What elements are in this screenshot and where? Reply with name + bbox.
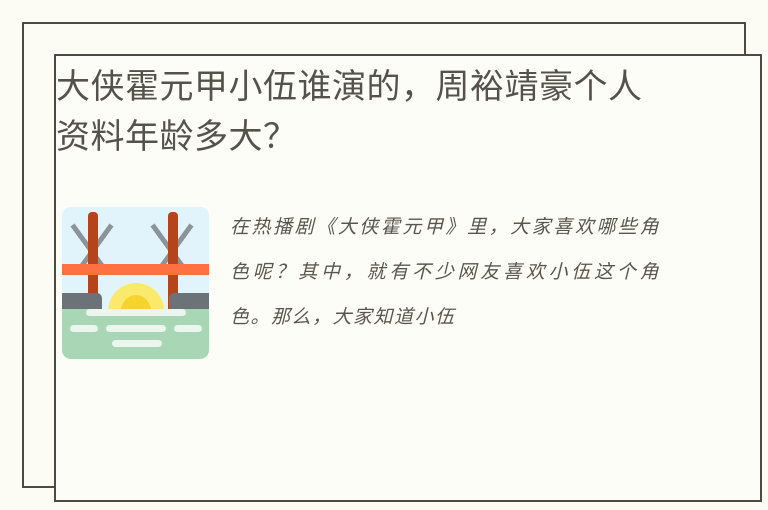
shore-rock-icon xyxy=(169,293,209,309)
bridge-sunset-icon[interactable] xyxy=(62,207,209,359)
article-excerpt: 在热播剧《大侠霍元甲》里，大家喜欢哪些角色呢？其中，就有不少网友喜欢小伍这个角色… xyxy=(230,205,660,340)
water-ripple-icon xyxy=(86,309,186,316)
water-icon xyxy=(62,309,209,359)
water-ripple-icon xyxy=(174,325,202,332)
shore-rock-icon xyxy=(62,293,102,309)
bridge-deck-icon xyxy=(62,264,209,275)
water-ripple-icon xyxy=(106,325,166,332)
water-ripple-icon xyxy=(112,340,162,347)
article-body: 在热播剧《大侠霍元甲》里，大家喜欢哪些角色呢？其中，就有不少网友喜欢小伍这个角色… xyxy=(62,207,682,407)
water-ripple-icon xyxy=(70,325,98,332)
article-title[interactable]: 大侠霍元甲小伍谁演的，周裕靖豪个人资料年龄多大？ xyxy=(56,62,656,162)
